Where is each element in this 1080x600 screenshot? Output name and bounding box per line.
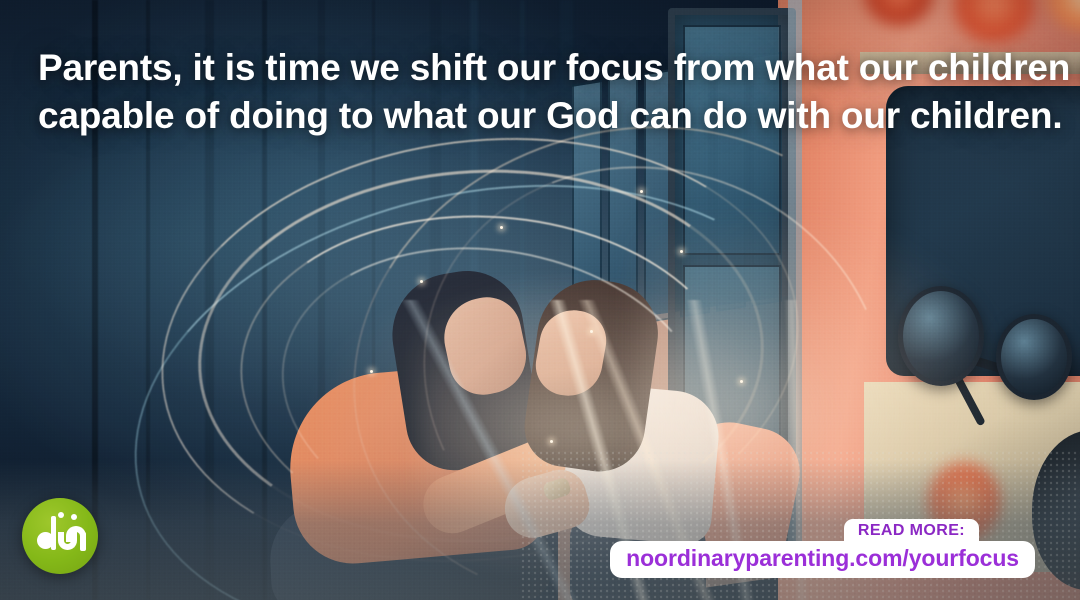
brand-logo-icon[interactable] [22, 498, 98, 574]
logo-glyph-d-stem [51, 516, 56, 550]
read-more-cta[interactable]: READ MORE: noordinaryparenting.com/yourf… [610, 519, 1035, 578]
quote-line-2: capable of doing to what our God can do … [38, 92, 1042, 140]
logo-glyph-n-dot [71, 514, 77, 520]
logo-glyph-i-dot [58, 512, 64, 518]
logo-glyph-n-stem [80, 532, 86, 551]
logo-lettermark [22, 498, 98, 574]
quote-line-1: Parents, it is time we shift our focus f… [38, 44, 1042, 92]
quote-headline: Parents, it is time we shift our focus f… [0, 44, 1080, 140]
website-url[interactable]: noordinaryparenting.com/yourfocus [610, 541, 1035, 578]
read-more-label: READ MORE: [844, 519, 979, 542]
social-media-quote-graphic: Parents, it is time we shift our focus f… [0, 0, 1080, 600]
